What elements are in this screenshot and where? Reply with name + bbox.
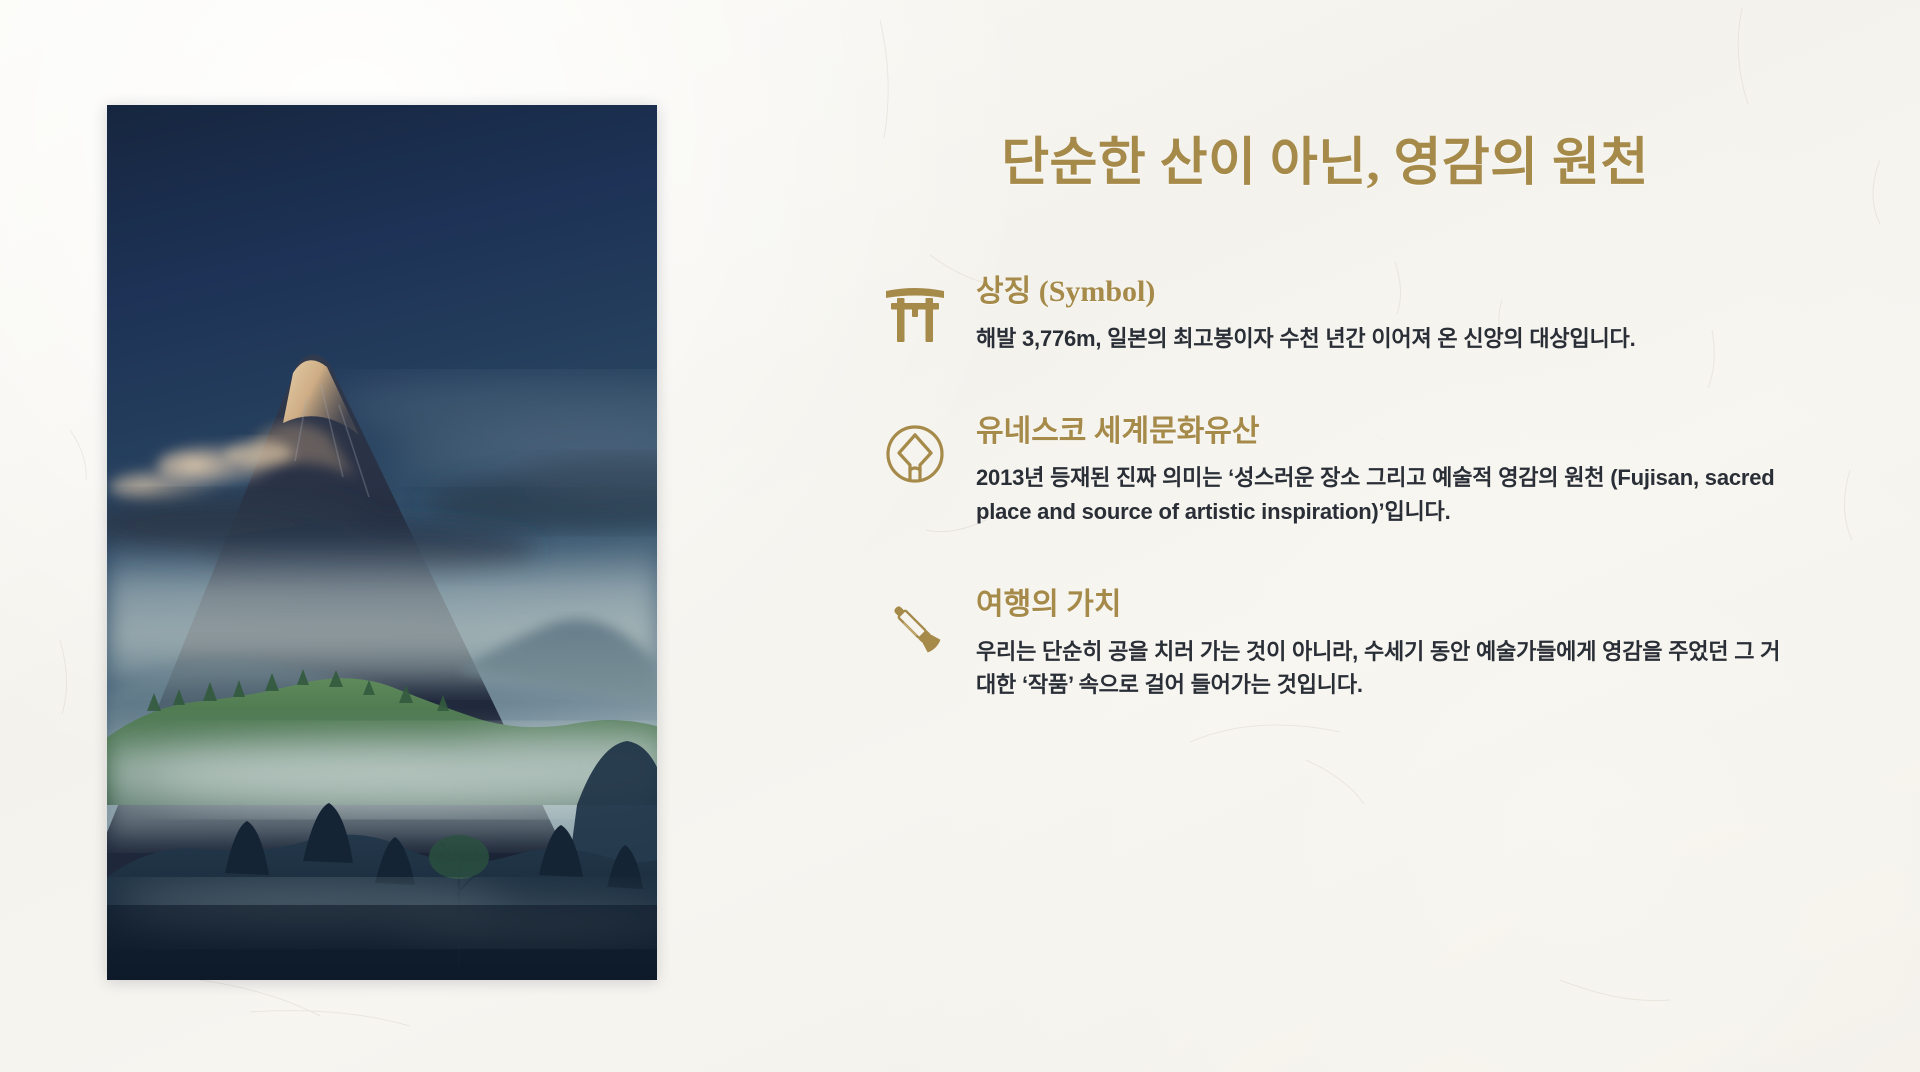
page-title: 단순한 산이 아닌, 영감의 원천 — [880, 120, 1840, 195]
torii-gate-icon — [880, 279, 950, 349]
content-column: 단순한 산이 아닌, 영감의 원천 상 — [880, 120, 1840, 702]
feature-item-travel-value: 여행의 가치 우리는 단순히 공을 치러 가는 것이 아니라, 수세기 동안 예… — [880, 586, 1840, 701]
feature-item-unesco: 유네스코 세계문화유산 2013년 등재된 진짜 의미는 ‘성스러운 장소 그리… — [880, 413, 1840, 528]
paintbrush-icon — [880, 592, 950, 662]
feature-list: 상징 (Symbol) 해발 3,776m, 일본의 최고봉이자 수천 년간 이… — [880, 273, 1840, 702]
feature-body: 상징 (Symbol) 해발 3,776m, 일본의 최고봉이자 수천 년간 이… — [976, 273, 1840, 355]
mount-fuji-photo — [107, 105, 657, 980]
slide-canvas: 단순한 산이 아닌, 영감의 원천 상 — [0, 0, 1920, 1072]
feature-text: 2013년 등재된 진짜 의미는 ‘성스러운 장소 그리고 예술적 영감의 원천… — [976, 461, 1786, 528]
feature-text: 우리는 단순히 공을 치러 가는 것이 아니라, 수세기 동안 예술가들에게 영… — [976, 635, 1786, 702]
feature-heading: 유네스코 세계문화유산 — [976, 415, 1840, 450]
feature-heading: 상징 (Symbol) — [976, 275, 1840, 310]
unesco-emblem-icon — [880, 419, 950, 489]
feature-item-symbol: 상징 (Symbol) 해발 3,776m, 일본의 최고봉이자 수천 년간 이… — [880, 273, 1840, 355]
feature-body: 유네스코 세계문화유산 2013년 등재된 진짜 의미는 ‘성스러운 장소 그리… — [976, 413, 1840, 528]
feature-body: 여행의 가치 우리는 단순히 공을 치러 가는 것이 아니라, 수세기 동안 예… — [976, 586, 1840, 701]
feature-text: 해발 3,776m, 일본의 최고봉이자 수천 년간 이어져 온 신앙의 대상입… — [976, 322, 1786, 355]
feature-heading: 여행의 가치 — [976, 588, 1840, 623]
